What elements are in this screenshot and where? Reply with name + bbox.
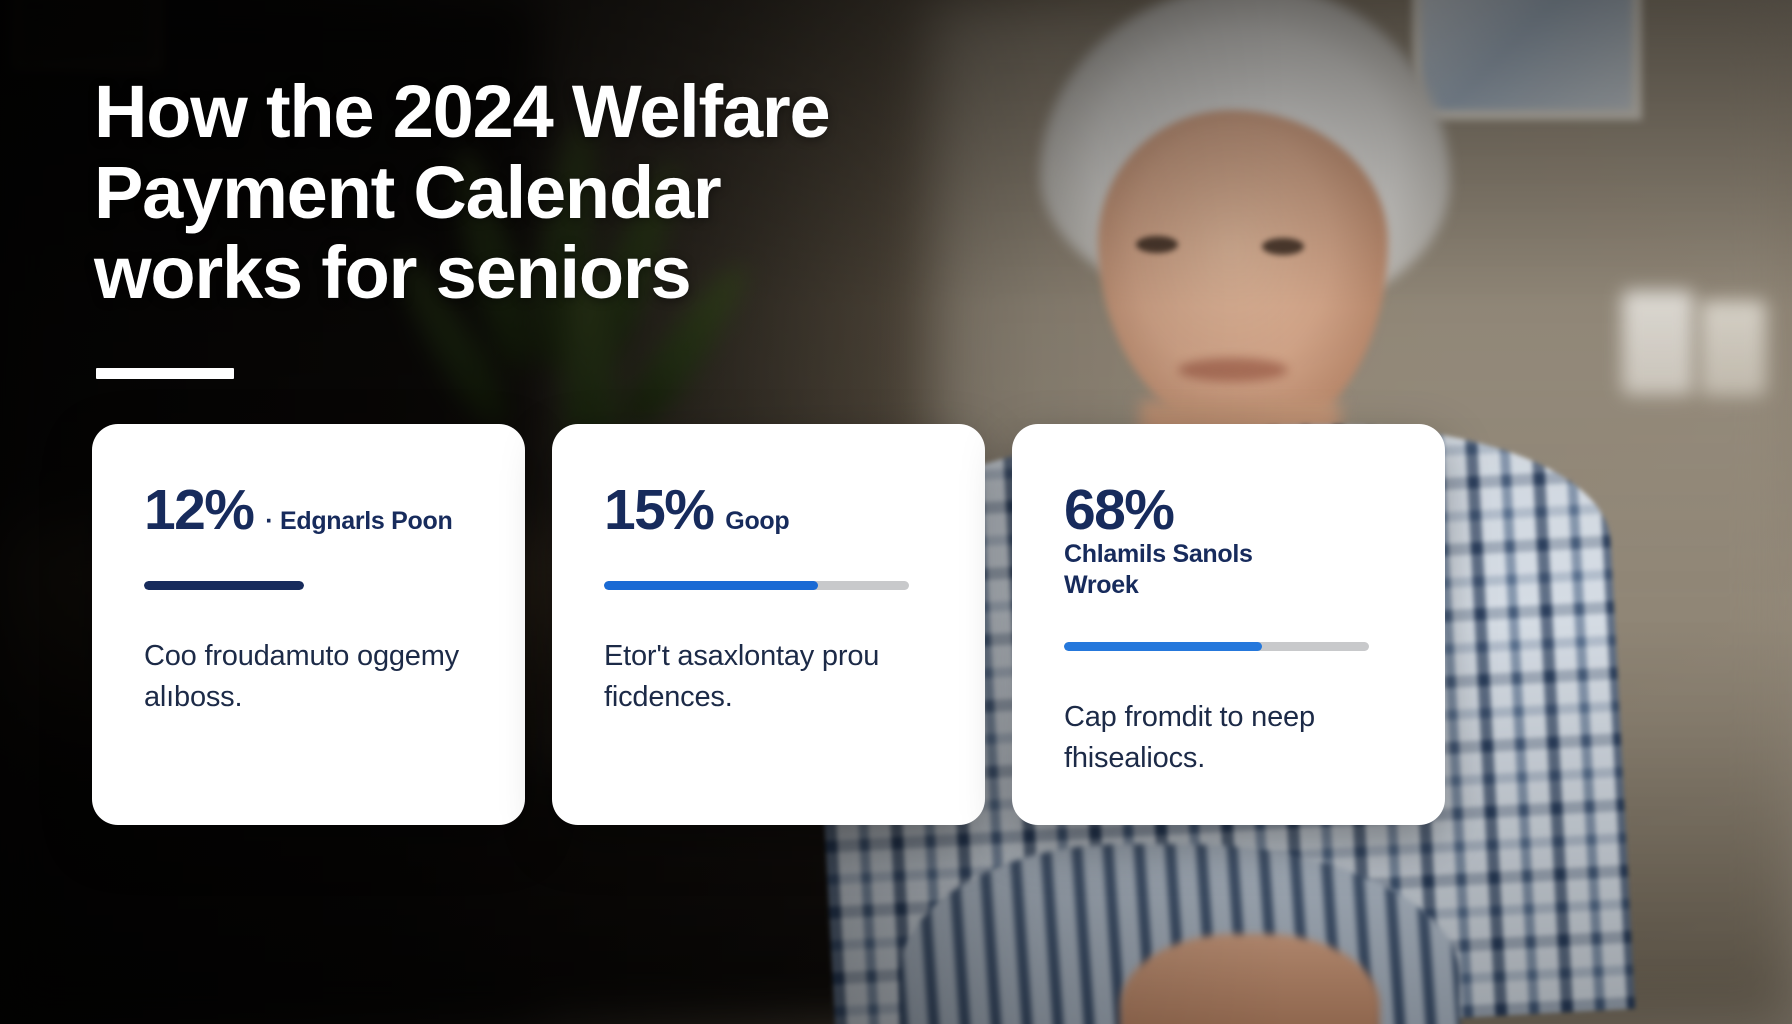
stat-label: · Edgnarls Poon [265, 506, 452, 537]
progress-bar-track [144, 581, 304, 590]
stat-heading: 15% Goop [604, 482, 937, 539]
headline-line-2: Payment Calendar [94, 151, 721, 234]
progress-bar-fill [144, 581, 304, 590]
stat-heading: 12% · Edgnarls Poon [144, 482, 477, 539]
progress-bar-track [1064, 642, 1369, 651]
progress-bar-fill [604, 581, 818, 590]
stat-card[interactable]: 68% Chlamils Sanols Wroek Cap fromdit to… [1012, 424, 1445, 825]
stat-card[interactable]: 12% · Edgnarls Poon Coo froudamuto oggem… [92, 424, 525, 825]
stat-card-list: 12% · Edgnarls Poon Coo froudamuto oggem… [92, 424, 1482, 825]
stat-card-body: Coo froudamuto oggemy alıboss. [144, 636, 477, 718]
progress-bar-fill [1064, 642, 1262, 651]
stat-label: Chlamils Sanols Wroek [1064, 539, 1294, 600]
stat-heading: 68% Chlamils Sanols Wroek [1064, 482, 1397, 600]
stat-value: 15% [604, 482, 713, 539]
headline-line-3: works for seniors [94, 231, 690, 314]
headline-line-1: How the 2024 Welfare [94, 70, 829, 153]
stat-label: Goop [725, 506, 789, 537]
headline-divider [96, 368, 234, 379]
stat-value: 12% [144, 482, 253, 539]
progress-bar-track [604, 581, 909, 590]
stat-value: 68% [1064, 482, 1173, 539]
stat-card-body: Cap fromdit to neep fhisealiocs. [1064, 697, 1397, 779]
infographic-canvas: How the 2024 Welfare Payment Calendar wo… [0, 0, 1792, 1024]
stat-card[interactable]: 15% Goop Etor't asaxlontay prou ficdence… [552, 424, 985, 825]
stat-card-body: Etor't asaxlontay prou ficdences. [604, 636, 937, 718]
page-title: How the 2024 Welfare Payment Calendar wo… [94, 72, 994, 314]
foreground-content: How the 2024 Welfare Payment Calendar wo… [0, 0, 1792, 1024]
